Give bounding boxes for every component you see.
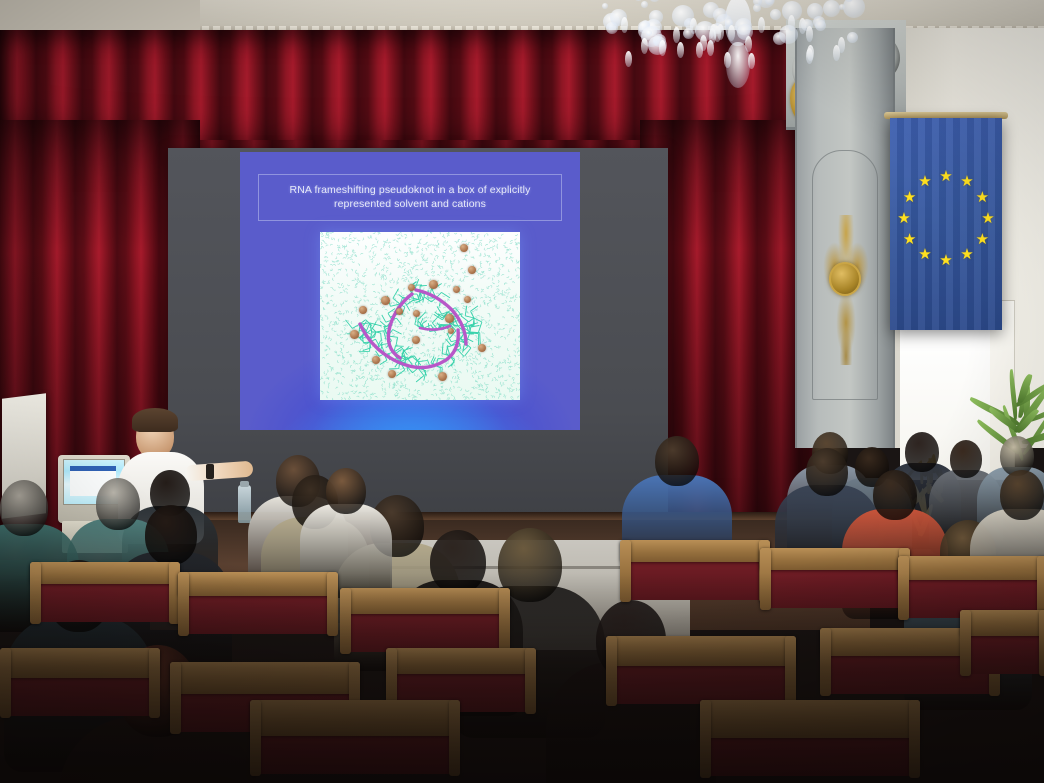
flag-star: ★ xyxy=(902,190,917,205)
slide-title-box: RNA frameshifting pseudoknot in a box of… xyxy=(258,174,562,221)
chair-post xyxy=(785,636,796,706)
chair-post xyxy=(960,610,971,676)
wooden-auditorium-chair[interactable] xyxy=(178,572,338,596)
chandelier-drop xyxy=(728,25,735,41)
chandelier-crystal xyxy=(641,1,648,8)
european-union-flag: ★★★★★★★★★★★★ xyxy=(890,118,1002,330)
chandelier-drop xyxy=(745,36,752,52)
chandelier-drop xyxy=(673,27,680,43)
wooden-auditorium-chair[interactable] xyxy=(606,636,796,666)
wooden-auditorium-chair[interactable] xyxy=(386,648,536,674)
potted-palm xyxy=(995,330,1044,440)
chandelier-drop xyxy=(799,18,806,34)
chandelier-drop xyxy=(710,24,717,40)
chandelier-crystal xyxy=(847,32,858,43)
chair-post xyxy=(149,648,160,718)
p-navy-glasses-head xyxy=(806,448,848,496)
chair-post xyxy=(606,636,617,706)
chandelier-drop xyxy=(788,15,795,31)
lecture-hall-scene: RNA frameshifting pseudoknot in a box of… xyxy=(0,0,1044,783)
chandelier-crystal xyxy=(823,0,840,17)
flag-star: ★ xyxy=(897,211,912,226)
rna-pseudoknot-structure xyxy=(320,232,520,400)
chandelier-drop xyxy=(748,53,755,69)
chandelier-drop xyxy=(690,18,697,34)
chair-post xyxy=(700,700,711,778)
chair-post xyxy=(1039,610,1044,676)
cation-sphere xyxy=(372,356,380,364)
p-suspenders-2-head xyxy=(326,468,366,514)
cation-sphere xyxy=(438,372,447,381)
cation-sphere xyxy=(381,296,390,305)
flag-star: ★ xyxy=(939,253,954,268)
gilt-medallion xyxy=(829,262,861,296)
p-back-right-2-head xyxy=(950,440,982,478)
chair-post xyxy=(760,548,771,610)
presenter-hair xyxy=(132,408,178,432)
wooden-auditorium-chair[interactable] xyxy=(170,662,360,694)
chandelier-drop xyxy=(717,24,724,40)
cation-sphere xyxy=(350,330,359,339)
crystal-chandelier xyxy=(600,0,860,95)
wooden-auditorium-chair[interactable] xyxy=(250,700,460,736)
wooden-auditorium-chair[interactable] xyxy=(700,700,920,738)
cation-sphere xyxy=(445,314,454,323)
chair-post xyxy=(620,540,631,602)
chandelier-crystal xyxy=(770,9,781,20)
chandelier-drop xyxy=(677,42,684,58)
chandelier-drop xyxy=(700,35,707,51)
chandelier-drop xyxy=(806,26,813,42)
wooden-auditorium-chair[interactable] xyxy=(960,610,1044,636)
chandelier-drop xyxy=(806,48,813,64)
p-back-right-1-head xyxy=(905,432,939,472)
chair-post xyxy=(327,572,338,636)
molecular-dynamics-figure xyxy=(320,232,520,400)
chandelier-drop xyxy=(758,17,765,33)
flag-star: ★ xyxy=(918,247,933,262)
wooden-auditorium-chair[interactable] xyxy=(898,556,1044,580)
chandelier-drop xyxy=(641,38,648,54)
chandelier-drop xyxy=(621,17,628,33)
flag-star: ★ xyxy=(975,232,990,247)
water-bottle xyxy=(238,485,251,523)
cation-sphere xyxy=(359,306,367,314)
flag-star: ★ xyxy=(939,169,954,184)
presenter-wristwatch xyxy=(206,464,214,479)
p-grey-left2-head xyxy=(0,480,48,536)
p-grey-left-head xyxy=(96,478,140,530)
p-right-light-head xyxy=(1000,470,1044,520)
cation-sphere xyxy=(408,284,415,291)
wooden-auditorium-chair[interactable] xyxy=(0,648,160,678)
chandelier-drop xyxy=(724,52,731,68)
wooden-auditorium-chair[interactable] xyxy=(760,548,910,570)
flag-star: ★ xyxy=(975,190,990,205)
p-dark-left-head xyxy=(145,505,197,565)
wooden-auditorium-chair[interactable] xyxy=(620,540,770,562)
slide-title: RNA frameshifting pseudoknot in a box of… xyxy=(265,184,555,211)
chair-post xyxy=(250,700,261,776)
flag-star: ★ xyxy=(918,174,933,189)
chandelier-crystal xyxy=(807,3,823,19)
p-blue-polo-head xyxy=(655,436,699,486)
chandelier-crystal xyxy=(649,0,660,2)
chair-post xyxy=(0,648,11,718)
cation-sphere xyxy=(460,244,468,252)
flag-star: ★ xyxy=(902,232,917,247)
wooden-auditorium-chair[interactable] xyxy=(30,562,180,584)
chandelier-crystal xyxy=(713,8,727,22)
chandelier-crystal xyxy=(815,20,826,31)
chair-post xyxy=(898,556,909,620)
chair-post xyxy=(449,700,460,776)
chandelier-drop xyxy=(659,40,666,56)
cation-sphere xyxy=(429,280,438,289)
chair-post xyxy=(820,628,831,696)
chair-post xyxy=(499,588,510,654)
water-bottle-cap xyxy=(240,481,249,487)
p-stripe-tee-head xyxy=(873,470,917,520)
flag-star: ★ xyxy=(960,174,975,189)
palm-leaf xyxy=(1008,369,1019,420)
chair-post xyxy=(525,648,536,714)
chandelier-drop xyxy=(833,45,840,61)
chair-post xyxy=(909,700,920,778)
projected-slide: RNA frameshifting pseudoknot in a box of… xyxy=(240,152,580,430)
chandelier-crystal xyxy=(602,3,608,9)
chair-post xyxy=(340,588,351,654)
flag-star: ★ xyxy=(960,247,975,262)
flag-star: ★ xyxy=(981,211,996,226)
cation-sphere xyxy=(388,370,396,378)
chair-post xyxy=(170,662,181,734)
chair-post xyxy=(30,562,41,624)
cation-sphere xyxy=(468,266,476,274)
wooden-auditorium-chair[interactable] xyxy=(340,588,510,614)
chair-post xyxy=(178,572,189,636)
chandelier-crystal xyxy=(646,30,652,36)
chandelier-drop xyxy=(625,51,632,67)
p-center-dark-head xyxy=(430,530,486,594)
